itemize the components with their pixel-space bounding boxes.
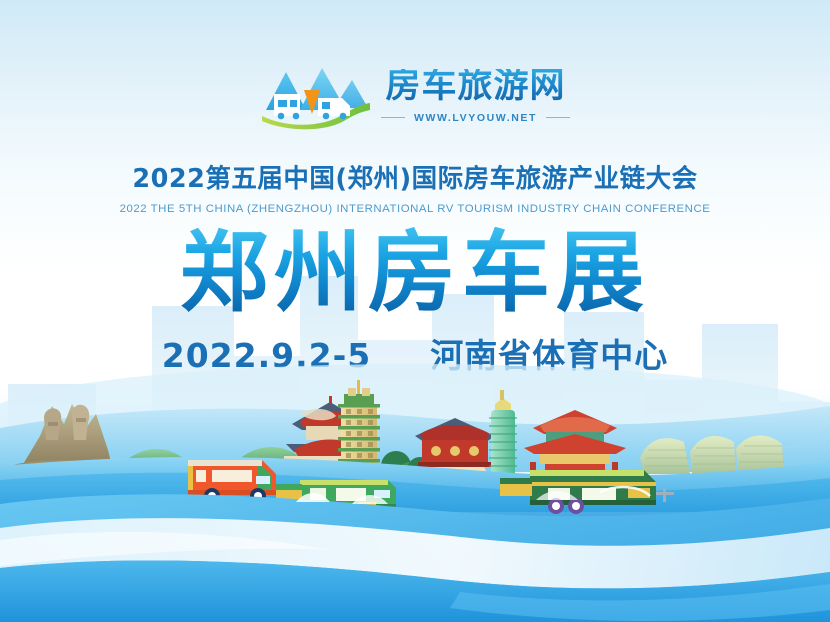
landmark-illustration-scene <box>0 362 830 622</box>
dash-left-icon <box>381 117 405 119</box>
logo-website-url: WWW.LVYOUW.NET <box>414 112 537 124</box>
poster-canvas: 房车旅游网 WWW.LVYOUW.NET 2022第五届中国(郑州)国际房车旅游… <box>0 0 830 622</box>
conference-title-cn: 2022第五届中国(郑州)国际房车旅游产业链大会 <box>0 158 830 195</box>
dash-right-icon <box>546 117 570 119</box>
conference-title-en: 2022 THE 5TH CHINA (ZHENGZHOU) INTERNATI… <box>0 203 830 215</box>
landmark-art-center <box>640 435 784 474</box>
title-block: 2022第五届中国(郑州)国际房车旅游产业链大会 2022 THE 5TH CH… <box>0 158 830 377</box>
rv-mountain-logo-icon <box>260 58 372 130</box>
logo-brand-name: 房车旅游网 <box>385 69 565 104</box>
site-logo[interactable]: 房车旅游网 WWW.LVYOUW.NET <box>0 58 830 130</box>
page-title: 郑州房车展 <box>0 227 830 319</box>
logo-url-row: WWW.LVYOUW.NET <box>381 112 570 124</box>
